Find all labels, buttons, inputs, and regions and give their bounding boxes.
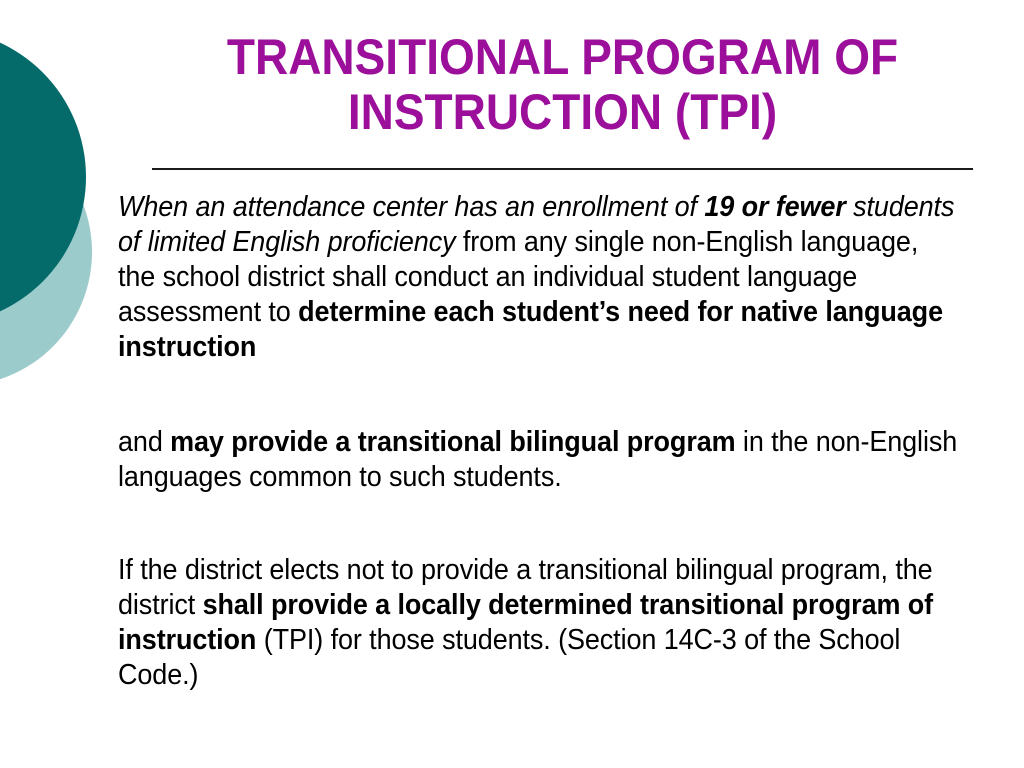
slide-canvas: TRANSITIONAL PROGRAM OF INSTRUCTION (TPI… (0, 0, 1024, 768)
text-run: and (118, 426, 170, 458)
light-teal-circle (0, 118, 92, 386)
dark-teal-circle (0, 29, 86, 325)
title-block: TRANSITIONAL PROGRAM OF INSTRUCTION (TPI… (140, 30, 985, 140)
title-divider (152, 168, 973, 170)
body-paragraph-1: When an attendance center has an enrollm… (118, 190, 960, 365)
text-run: When an attendance center has an enrollm… (118, 191, 704, 223)
body-paragraph-2: and may provide a transitional bilingual… (118, 425, 960, 495)
text-run-emphasis: 19 or fewer (704, 191, 845, 223)
body-content: When an attendance center has an enrollm… (118, 190, 1023, 693)
text-run-emphasis: may provide a transitional bilingual pro… (170, 426, 735, 458)
body-paragraph-3: If the district elects not to provide a … (118, 553, 960, 693)
page-title: TRANSITIONAL PROGRAM OF INSTRUCTION (TPI… (174, 30, 951, 140)
